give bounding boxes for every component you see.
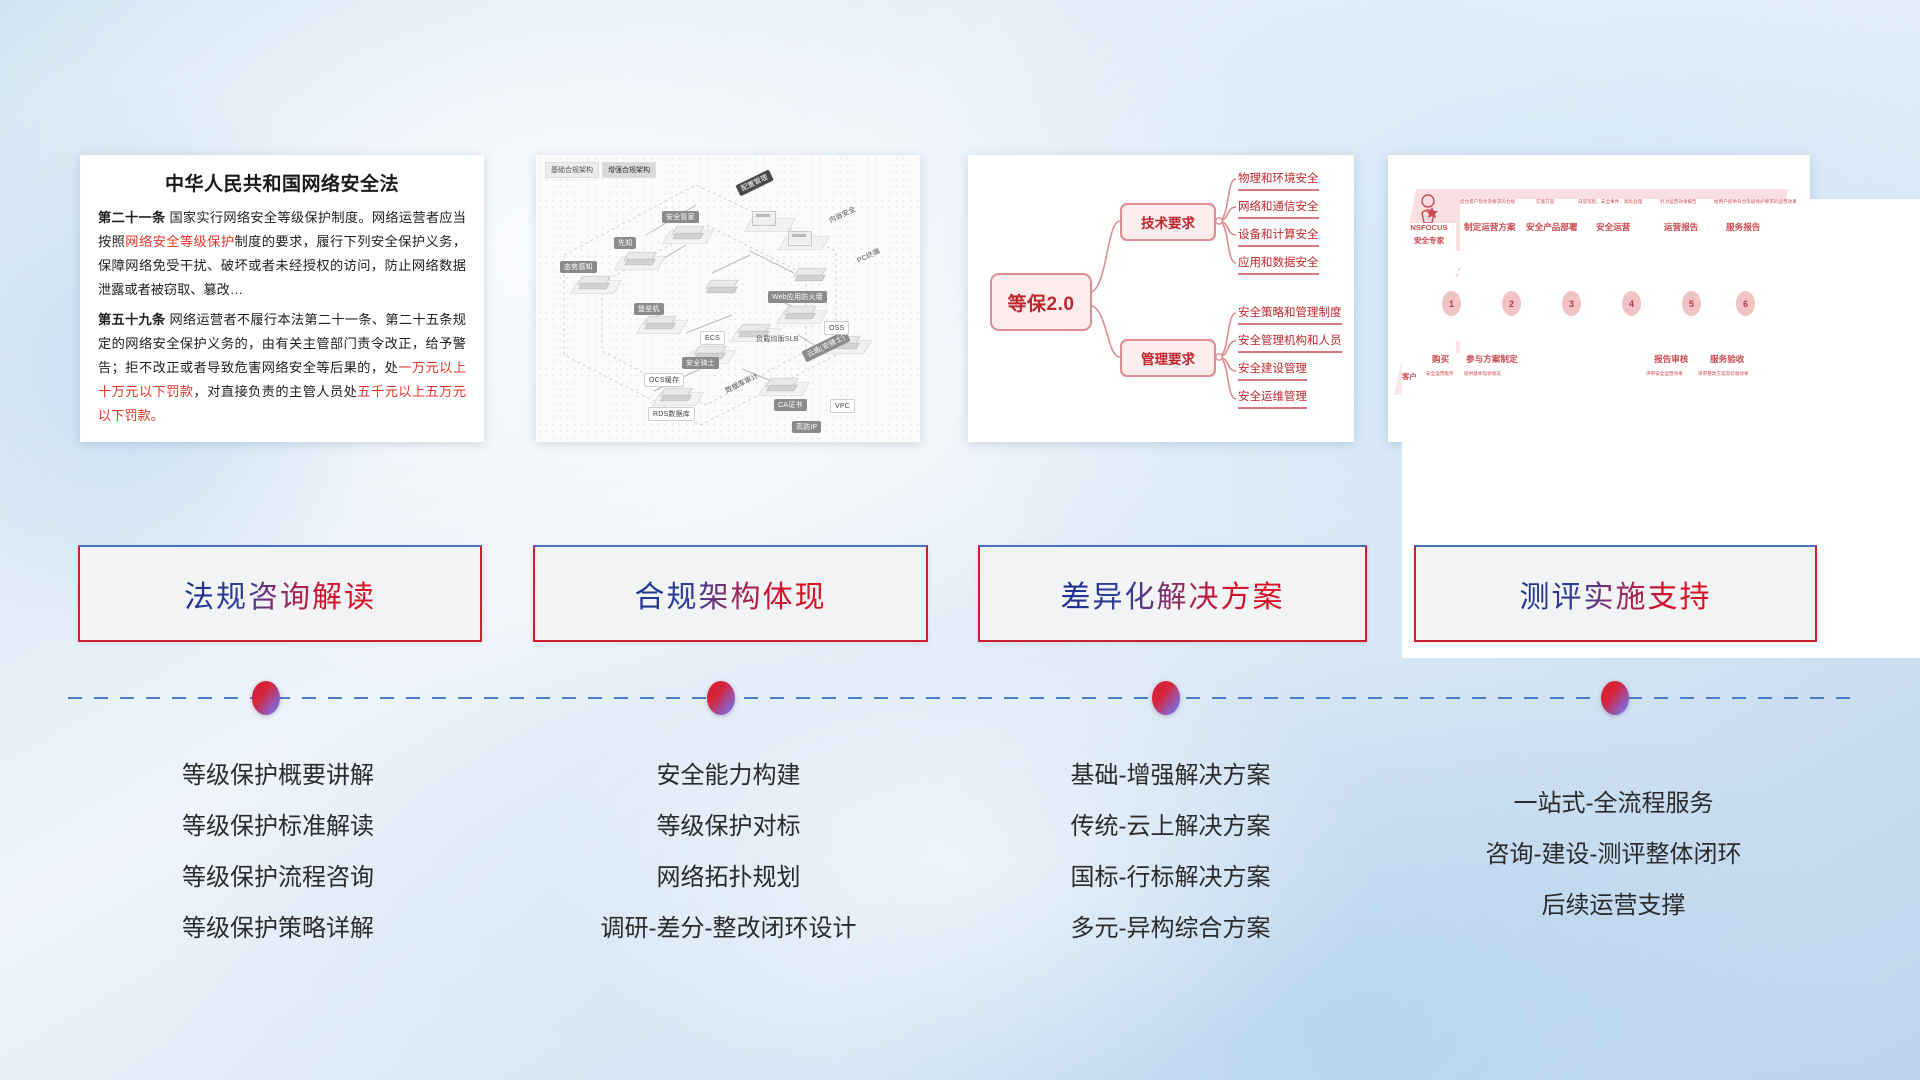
list-item: 基础-增强解决方案 <box>978 750 1363 801</box>
mindmap-leaf-ops-mgmt: 安全运维管理 <box>1238 388 1307 409</box>
pillar-list-1: 等级保护概要讲解 等级保护标准解读 等级保护流程咨询 等级保护策略详解 <box>78 750 478 954</box>
list-item: 后续运营支撑 <box>1414 880 1813 931</box>
pillar-title-box-4[interactable]: 测评实施支持 <box>1414 545 1817 642</box>
card-compliance-architecture[interactable]: 基础合规架构 增强合规架构 <box>536 155 920 442</box>
law-article-59-text-b: ，对直接负责的主管人员处 <box>194 384 358 399</box>
mindmap-leaf-app-data: 应用和数据安全 <box>1238 254 1319 275</box>
law-article-59: 第五十九条 网络运营者不履行本法第二十一条、第二十五条规定的网络安全保护义务的，… <box>98 308 466 428</box>
timeline-marker-2 <box>707 681 735 715</box>
pillar-list-4: 一站式-全流程服务 咨询-建设-测评整体闭环 后续运营支撑 <box>1414 778 1813 931</box>
dashed-timeline-axis <box>68 697 1852 699</box>
mindmap-leaf-network-comm: 网络和通信安全 <box>1238 198 1319 219</box>
timeline-marker-1 <box>252 681 280 715</box>
law-article-21: 第二十一条 国家实行网络安全等级保护制度。网络运营者应当按照网络安全等级保护制度… <box>98 206 466 302</box>
list-item: 咨询-建设-测评整体闭环 <box>1414 829 1813 880</box>
arch-node-rds-database: RDS数据库 <box>648 407 695 421</box>
law-article-59-label: 第五十九条 <box>98 312 165 327</box>
slide-stage: 中华人民共和国网络安全法 第二十一条 国家实行网络安全等级保护制度。网络运营者应… <box>0 0 1920 1080</box>
arch-node-waf: Web应用防火墙 <box>768 291 827 303</box>
mindmap-leaf-physical-env: 物理和环境安全 <box>1238 170 1319 191</box>
list-item: 调研-差分-整改闭环设计 <box>533 903 924 954</box>
nsfocus-timeline-node-3: 3 <box>1562 291 1581 316</box>
list-item: 网络拓扑规划 <box>533 852 924 903</box>
pillar-title-2: 合规架构体现 <box>635 572 827 616</box>
pillar-list-3: 基础-增强解决方案 传统-云上解决方案 国标-行标解决方案 多元-异构综合方案 <box>978 750 1363 954</box>
mindmap-leaf-org-personnel: 安全管理机构和人员 <box>1238 332 1342 353</box>
list-item: 一站式-全流程服务 <box>1414 778 1813 829</box>
arch-node-slb: 负载均衡SLB <box>752 333 803 345</box>
pillar-title-4: 测评实施支持 <box>1520 572 1712 616</box>
arch-node-security-butler: 安全管家 <box>662 211 699 223</box>
list-item: 等级保护流程咨询 <box>78 852 478 903</box>
arch-node-xianzhi: 先知 <box>614 237 636 249</box>
timeline-marker-3 <box>1152 681 1180 715</box>
list-item: 等级保护策略详解 <box>78 903 478 954</box>
list-item: 等级保护概要讲解 <box>78 750 478 801</box>
list-item: 国标-行标解决方案 <box>978 852 1363 903</box>
card-dengbao-mindmap[interactable]: 等保2.0 技术要求 管理要求 物理和环境安全 网络和通信安全 设备和计算安全 … <box>968 155 1354 442</box>
mindmap-leaf-construction-mgmt: 安全建设管理 <box>1238 360 1307 381</box>
pillar-title-3: 差异化解决方案 <box>1061 572 1285 616</box>
card-cybersecurity-law[interactable]: 中华人民共和国网络安全法 第二十一条 国家实行网络安全等级保护制度。网络运营者应… <box>80 155 484 442</box>
mindmap-branch-technical: 技术要求 <box>1120 203 1216 241</box>
pillar-title-1: 法规咨询解读 <box>184 572 376 616</box>
nsfocus-timeline-node-2: 2 <box>1502 291 1521 316</box>
nsfocus-timeline-node-6: 6 <box>1736 291 1755 316</box>
list-item: 传统-云上解决方案 <box>978 801 1363 852</box>
list-item: 安全能力构建 <box>533 750 924 801</box>
mindmap-branch-management: 管理要求 <box>1120 339 1216 377</box>
reference-cards-row: 中华人民共和国网络安全法 第二十一条 国家实行网络安全等级保护制度。网络运营者应… <box>0 155 1920 445</box>
timeline-marker-4 <box>1601 681 1629 715</box>
nsfocus-timeline-node-5: 5 <box>1682 291 1701 316</box>
pillar-list-2: 安全能力构建 等级保护对标 网络拓扑规划 调研-差分-整改闭环设计 <box>533 750 924 954</box>
list-item: 等级保护对标 <box>533 801 924 852</box>
pillar-title-row: 法规咨询解读 合规架构体现 差异化解决方案 测评实施支持 <box>0 545 1920 645</box>
arch-node-situational-awareness: 态势感知 <box>560 261 597 273</box>
arch-node-ocs-cache: OCS缓存 <box>644 373 684 387</box>
pillar-title-box-3[interactable]: 差异化解决方案 <box>978 545 1367 642</box>
card-nsfocus-service-flow[interactable]: NSFOCUS 安全专家 结合客户现状及要求的合规 制定运营方案 实施方案 安全… <box>1388 155 1810 442</box>
mindmap-leaf-policy-system: 安全策略和管理制度 <box>1238 304 1342 325</box>
arch-node-ecs: ECS <box>700 331 725 345</box>
arch-node-vpc: VPC <box>830 399 855 413</box>
mindmap-root-node: 等保2.0 <box>990 273 1092 331</box>
pillar-title-box-1[interactable]: 法规咨询解读 <box>78 545 482 642</box>
law-article-21-label: 第二十一条 <box>98 210 165 225</box>
arch-node-ca-certificate: CA证书 <box>774 399 807 411</box>
nsfocus-timeline-node-1: 1 <box>1442 291 1461 316</box>
law-card-title: 中华人民共和国网络安全法 <box>98 169 466 196</box>
law-article-21-highlight: 网络安全等级保护 <box>125 234 234 249</box>
arch-node-security-knight: 安全骑士 <box>682 357 719 369</box>
list-item: 多元-异构综合方案 <box>978 903 1363 954</box>
mindmap-leaf-device-compute: 设备和计算安全 <box>1238 226 1319 247</box>
architecture-connector-lines <box>536 155 920 442</box>
pillar-title-box-2[interactable]: 合规架构体现 <box>533 545 928 642</box>
nsfocus-timeline-node-4: 4 <box>1622 291 1641 316</box>
arch-node-oss: OSS <box>824 321 849 335</box>
list-item: 等级保护标准解读 <box>78 801 478 852</box>
arch-node-bastion-host: 堡垒机 <box>634 303 664 315</box>
arch-node-anti-ddos-ip: 高防IP <box>792 421 821 433</box>
